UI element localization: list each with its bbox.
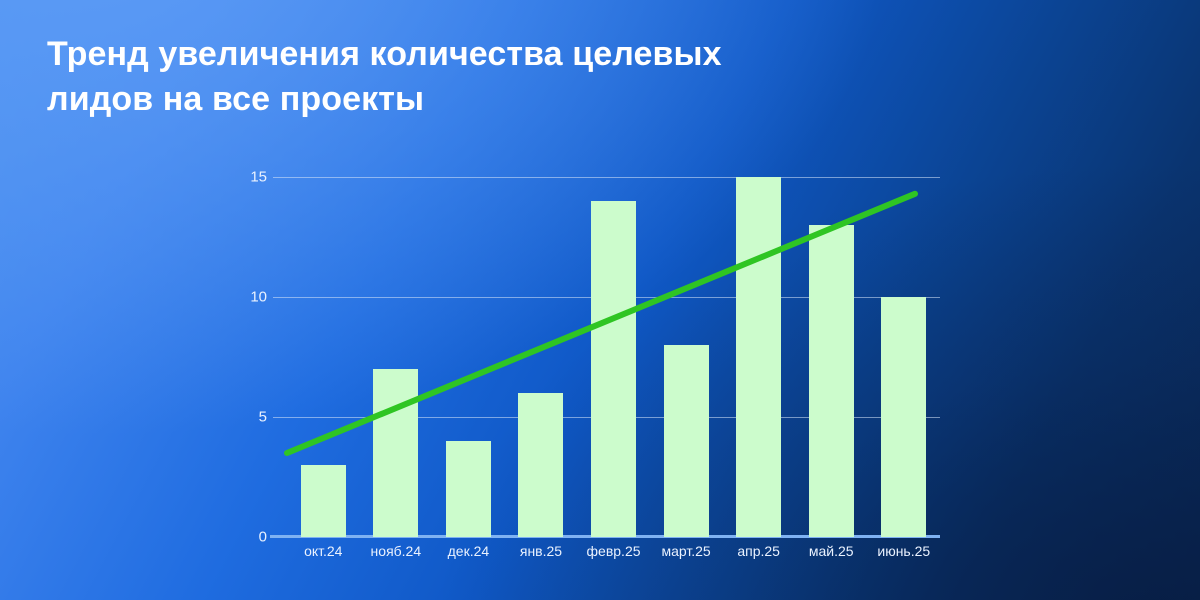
y-axis-tick-label: 10 [250, 289, 267, 306]
plot-area: 051015 [287, 177, 940, 537]
x-axis-tick-label: нояб.24 [360, 543, 433, 559]
chart-container: 051015 окт.24нояб.24дек.24янв.25февр.25м… [250, 160, 940, 560]
x-axis-labels: окт.24нояб.24дек.24янв.25февр.25март.25а… [287, 543, 940, 559]
x-axis-tick-label: янв.25 [505, 543, 578, 559]
y-axis-tick-label: 5 [259, 409, 267, 426]
x-axis-tick-label: дек.24 [432, 543, 505, 559]
x-axis-tick-label: март.25 [650, 543, 723, 559]
y-axis-tick-label: 0 [259, 529, 267, 546]
trend-line-series [287, 177, 940, 537]
x-axis-tick-label: февр.25 [577, 543, 650, 559]
chart-title: Тренд увеличения количества целевых лидо… [47, 32, 927, 122]
x-axis-tick-label: май.25 [795, 543, 868, 559]
x-axis-tick-label: окт.24 [287, 543, 360, 559]
x-axis-tick-label: июнь.25 [868, 543, 941, 559]
trend-line [287, 194, 915, 453]
x-axis-tick-label: апр.25 [722, 543, 795, 559]
y-axis-tick-label: 15 [250, 169, 267, 186]
